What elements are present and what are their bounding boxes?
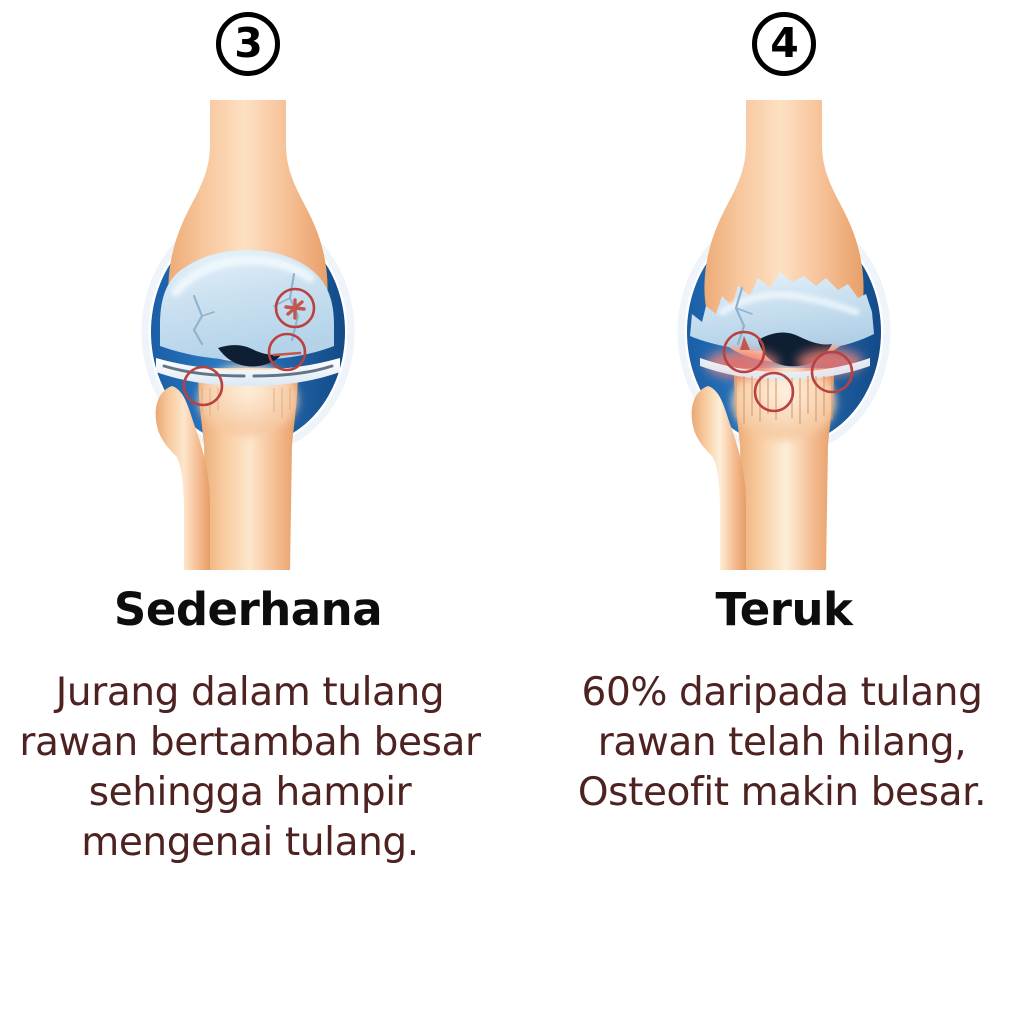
stage-panel-4: 4 bbox=[512, 0, 1024, 1024]
stage-badge-3: 3 bbox=[216, 12, 280, 76]
stage-badge-number: 3 bbox=[234, 23, 262, 64]
knee-illustration-moderate bbox=[98, 100, 398, 570]
knee-illustration-severe bbox=[634, 100, 934, 570]
stage-description-4: 60% daripada tulang rawan telah hilang, … bbox=[526, 668, 1024, 818]
stage-badge-4: 4 bbox=[752, 12, 816, 76]
stage-description-3: Jurang dalam tulang rawan bertambah besa… bbox=[0, 668, 506, 868]
stage-title-3: Sederhana bbox=[0, 582, 504, 638]
stage-badge-number: 4 bbox=[770, 23, 798, 64]
stage-panel-3: 3 bbox=[0, 0, 512, 1024]
infographic-canvas: 3 bbox=[0, 0, 1024, 1024]
stage-title-4: Teruk bbox=[528, 582, 1024, 638]
